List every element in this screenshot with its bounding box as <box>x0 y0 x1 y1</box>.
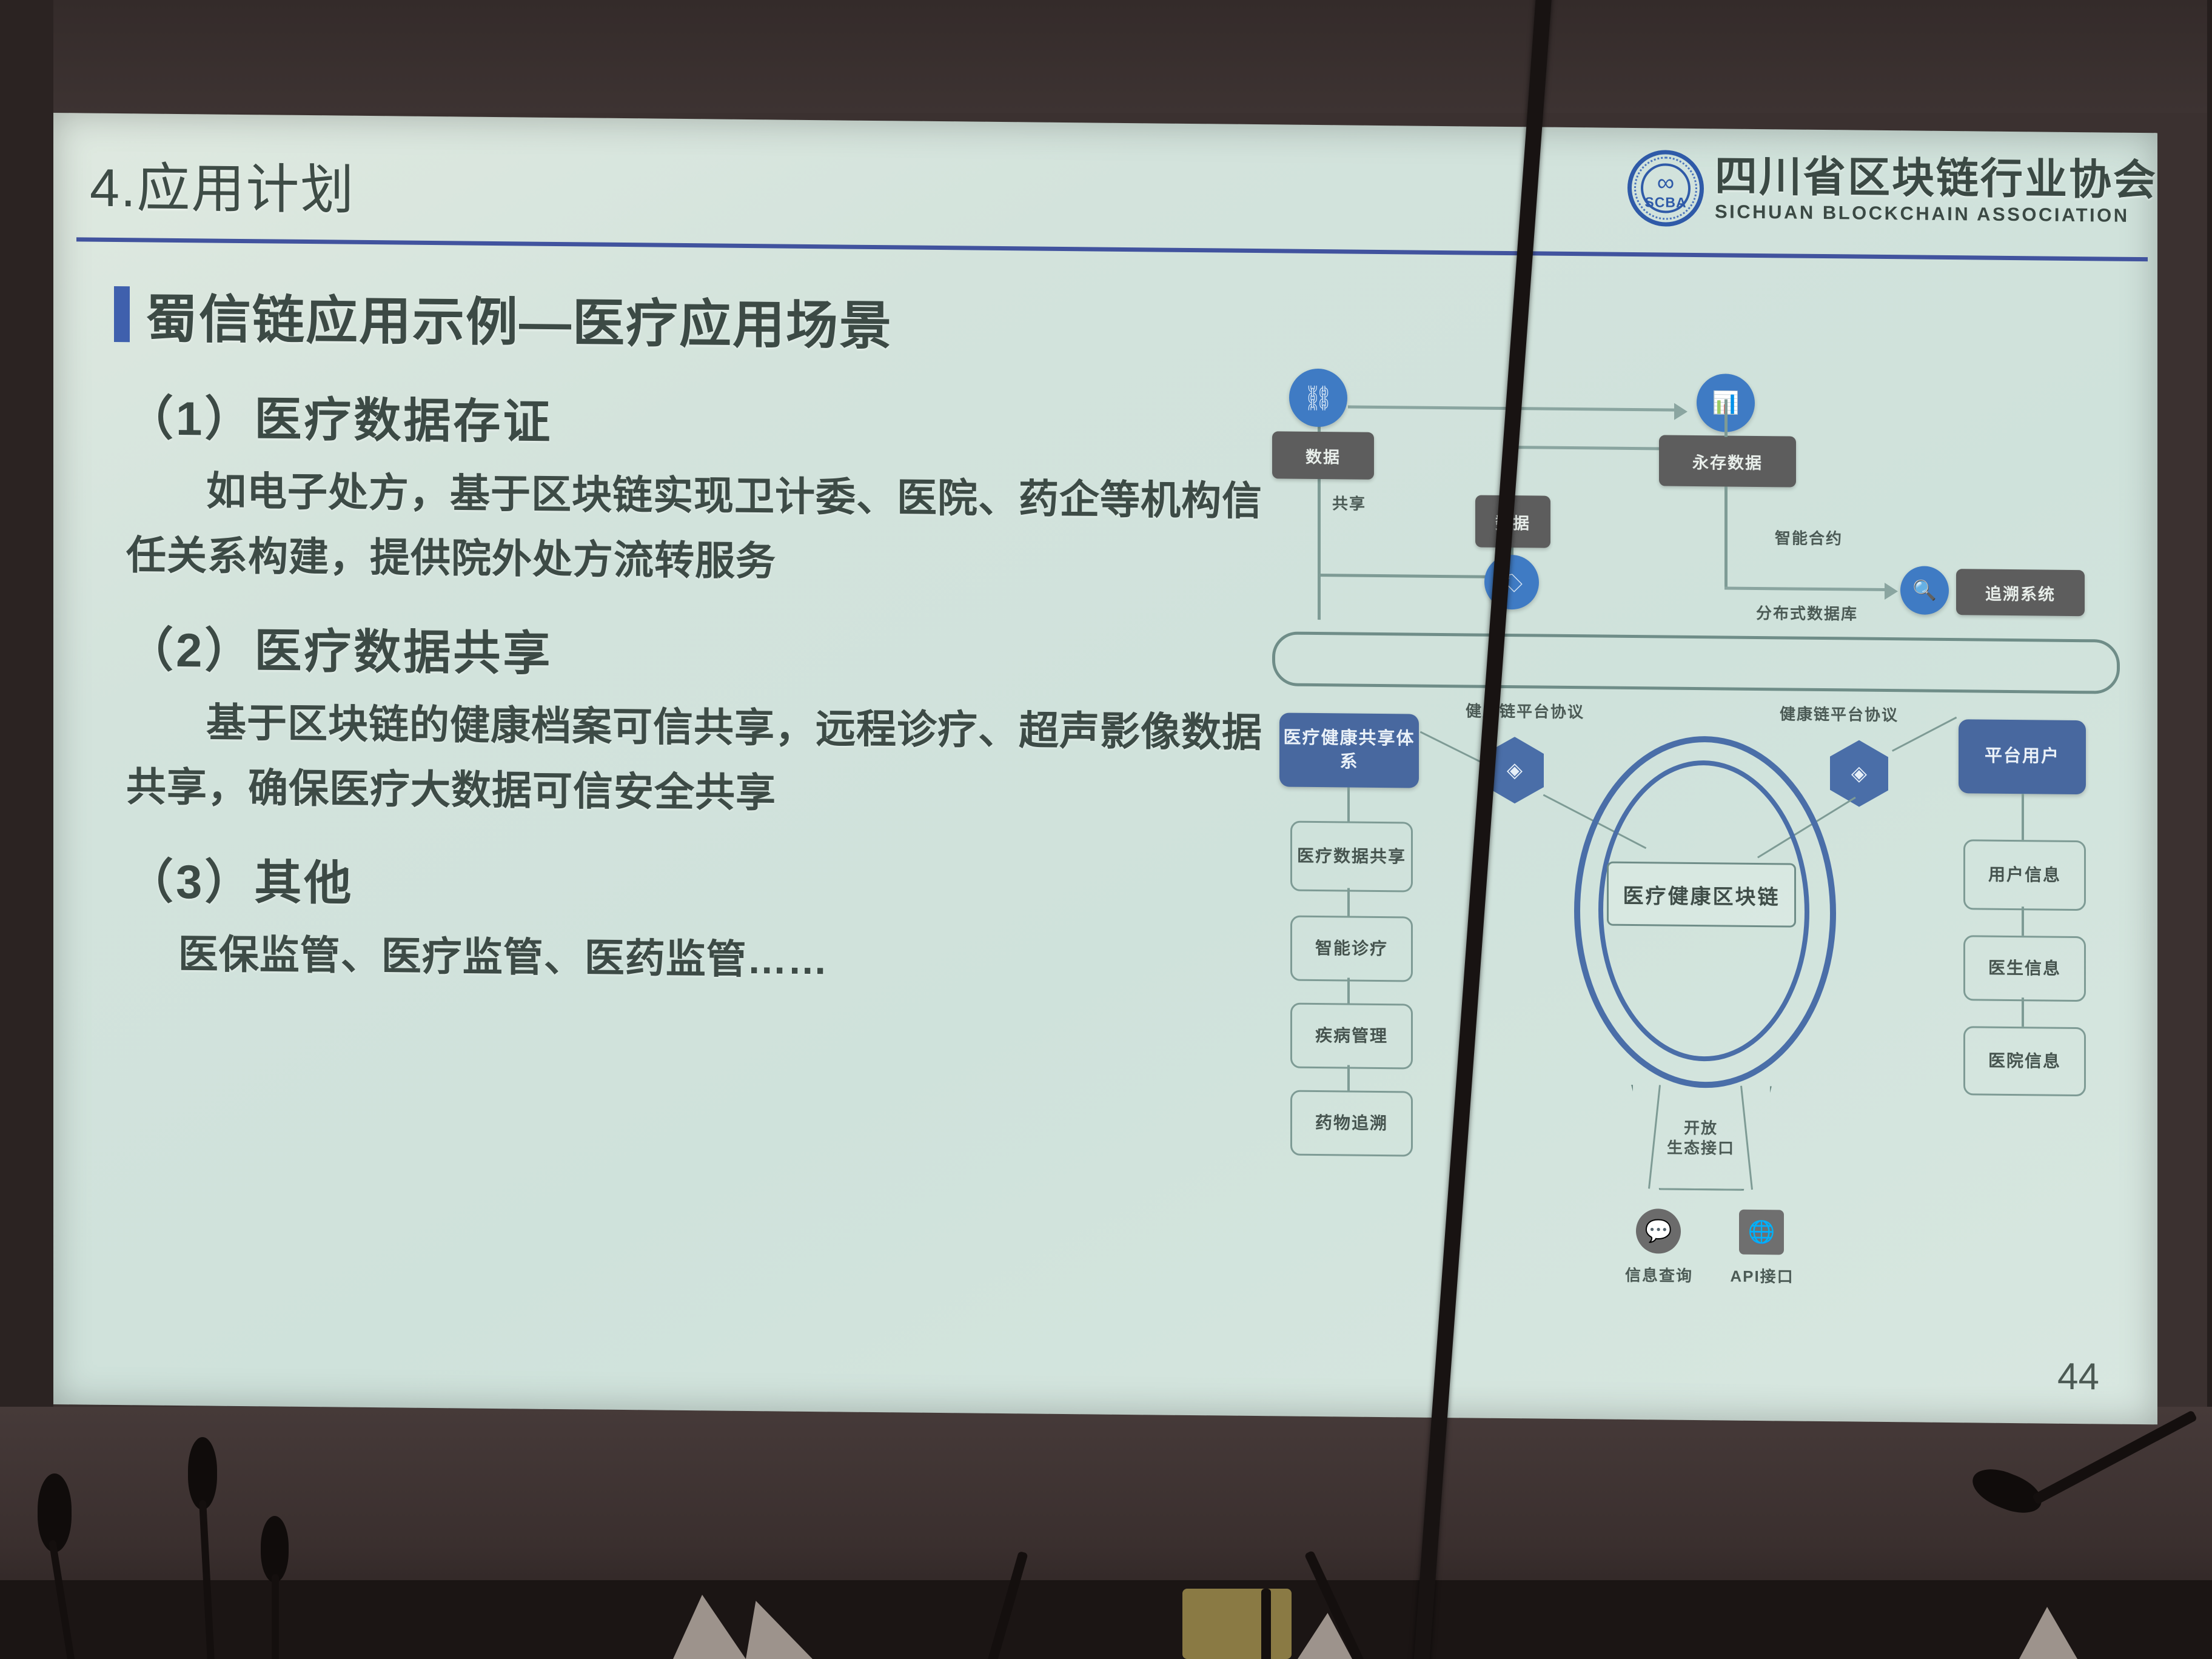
room-wall-top <box>0 0 2212 113</box>
left-branch-title: 医疗健康共享体系 <box>1279 712 1419 788</box>
photo-of-projected-slide: 4.应用计划 ∞ SCBA 四川省区块链行业协会 SICHUAN BLOCKCH… <box>0 0 2212 1659</box>
water-bottle <box>1182 1589 1292 1659</box>
association-logo: ∞ SCBA 四川省区块链行业协会 SICHUAN BLOCKCHAIN ASS… <box>1627 150 2157 231</box>
node-trace-system: 追溯系统 <box>1956 569 2085 616</box>
label-share: 共享 <box>1328 494 1370 514</box>
node-data-left: 数据 <box>1272 431 1374 480</box>
projected-slide: 4.应用计划 ∞ SCBA 四川省区块链行业协会 SICHUAN BLOCKCH… <box>53 113 2157 1424</box>
output-label-2: API接口 <box>1726 1266 1798 1287</box>
section-1-heading: （1）医疗数据存证 <box>126 380 1266 459</box>
content-column: （1）医疗数据存证 如电子处方，基于区块链实现卫计委、医院、药企等机构信任关系构… <box>126 380 1266 1021</box>
infinity-glyph: ∞ <box>1627 170 1704 195</box>
section-2-body: 基于区块链的健康档案可信共享，远程诊疗、超声影像数据共享，确保医疗大数据可信安全… <box>126 689 1266 830</box>
blockchain-core-label: 医疗健康区块链 <box>1607 862 1796 928</box>
right-item-1: 用户信息 <box>1963 839 2086 911</box>
page-title: 4.应用计划 <box>90 145 355 224</box>
right-item-2: 医生信息 <box>1963 935 2086 1002</box>
conference-table-edge <box>0 1580 2212 1659</box>
funnel-label: 开放 生态接口 <box>1658 1118 1744 1158</box>
node-search-icon: 🔍 <box>1900 566 1949 615</box>
subtitle-label: 蜀信链应用示例—医疗应用场景 <box>146 276 893 359</box>
section-3-heading: （3）其他 <box>126 843 1266 922</box>
scba-acronym: SCBA <box>1627 194 1704 211</box>
logo-name-en: SICHUAN BLOCKCHAIN ASSOCIATION <box>1715 201 2157 227</box>
section-subtitle: 蜀信链应用示例—医疗应用场景 <box>114 276 893 359</box>
platform-band <box>1272 631 2120 694</box>
subtitle-accent-bar <box>114 286 130 341</box>
scba-emblem-icon: ∞ SCBA <box>1627 150 1704 227</box>
left-item-2: 智能诊疗 <box>1290 916 1413 982</box>
right-protocol-hex-icon: ◈ <box>1830 740 1888 807</box>
right-branch-title: 平台用户 <box>1959 719 2086 794</box>
left-protocol-label: 健康链平台协议 <box>1449 701 1601 722</box>
node-store-data: 永存数据 <box>1659 435 1796 487</box>
section-3-body: 医保监管、医疗监管、医药监管…… <box>126 921 1266 997</box>
section-1-body: 如电子处方，基于区块链实现卫计委、医院、药企等机构信任关系构建，提供院外处方流转… <box>126 458 1266 598</box>
label-distributed-db: 分布式数据库 <box>1722 603 1892 624</box>
node-link-icon: ⛓ <box>1289 369 1347 427</box>
left-item-1: 医疗数据共享 <box>1290 821 1413 893</box>
left-item-3: 疾病管理 <box>1290 1003 1413 1070</box>
section-2: （2）医疗数据共享 基于区块链的健康档案可信共享，远程诊疗、超声影像数据共享，确… <box>126 612 1266 830</box>
right-protocol-label: 健康链平台协议 <box>1763 704 1915 725</box>
output-label-1: 信息查询 <box>1623 1265 1695 1286</box>
header-divider <box>76 237 2148 261</box>
api-globe-icon: 🌐 <box>1739 1210 1784 1255</box>
info-query-icon: 💬 <box>1636 1208 1681 1254</box>
section-1: （1）医疗数据存证 如电子处方，基于区块链实现卫计委、医院、药企等机构信任关系构… <box>126 380 1266 598</box>
section-3: （3）其他 医保监管、医疗监管、医药监管…… <box>126 843 1266 997</box>
left-item-4: 药物追溯 <box>1290 1090 1413 1157</box>
label-smart-contract: 智能合约 <box>1739 528 1879 549</box>
architecture-diagram: ⛓ 数据 共享 数据 🏷 📊 永存数据 智能合约 分布式数据库 🔍 追溯系统 医… <box>1272 373 2121 1327</box>
logo-name-cn: 四川省区块链行业协会 <box>1715 155 2157 201</box>
room-wall-left <box>0 0 53 1455</box>
right-item-3: 医院信息 <box>1963 1026 2086 1096</box>
page-number: 44 <box>2057 1355 2099 1399</box>
section-2-heading: （2）医疗数据共享 <box>126 612 1266 691</box>
